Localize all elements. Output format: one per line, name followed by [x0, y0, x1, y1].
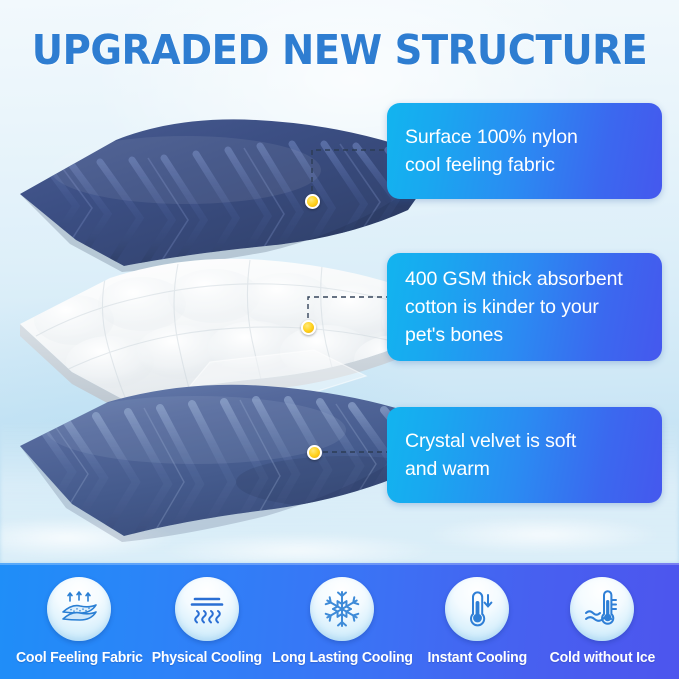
cotton-marker-dot: [301, 320, 316, 335]
thermometer-down-icon: [445, 577, 509, 641]
layer-crystal-velvet: [16, 386, 446, 546]
callout-velvet-line-2: and warm: [405, 455, 576, 483]
feature-cool-feeling-fabric: Cool Feeling Fabric: [14, 577, 145, 666]
page-title: UPGRADED NEW STRUCTURE: [20, 26, 658, 74]
feature-label-4: Cold without Ice: [550, 650, 656, 666]
callout-absorbent-cotton: 400 GSM thick absorbent cotton is kinder…: [387, 253, 662, 361]
feature-label-0: Cool Feeling Fabric: [16, 650, 143, 666]
feature-cold-without-ice: Cold without Ice: [540, 577, 665, 666]
feature-physical-cooling: Physical Cooling: [145, 577, 270, 666]
snowflake-icon: [310, 577, 374, 641]
feature-instant-cooling: Instant Cooling: [415, 577, 540, 666]
airflow-lines-icon: [175, 577, 239, 641]
callout-surface-line-2: cool feeling fabric: [405, 151, 578, 179]
feature-label-2: Long Lasting Cooling: [272, 650, 413, 666]
callout-cotton-line-3: pet's bones: [405, 321, 623, 349]
feature-label-3: Instant Cooling: [428, 650, 527, 666]
feature-bar: Cool Feeling Fabric: [0, 563, 679, 679]
callout-velvet-line-1: Crystal velvet is soft: [405, 427, 576, 455]
callout-cotton-line-2: cotton is kinder to your: [405, 293, 623, 321]
callout-cotton-line-1: 400 GSM thick absorbent: [405, 265, 623, 293]
callout-surface-line-1: Surface 100% nylon: [405, 123, 578, 151]
feature-long-lasting-cooling: Long Lasting Cooling: [270, 577, 415, 666]
callout-crystal-velvet: Crystal velvet is soft and warm: [387, 407, 662, 503]
velvet-marker-dot: [307, 445, 322, 460]
thermometer-water-icon: [570, 577, 634, 641]
callout-surface-nylon: Surface 100% nylon cool feeling fabric: [387, 103, 662, 199]
cool-fabric-icon: [47, 577, 111, 641]
infographic-canvas: UPGRADED NEW STRUCTURE: [0, 0, 679, 679]
layer-surface-nylon: [16, 118, 446, 278]
surface-marker-dot: [305, 194, 320, 209]
feature-label-1: Physical Cooling: [152, 650, 262, 666]
